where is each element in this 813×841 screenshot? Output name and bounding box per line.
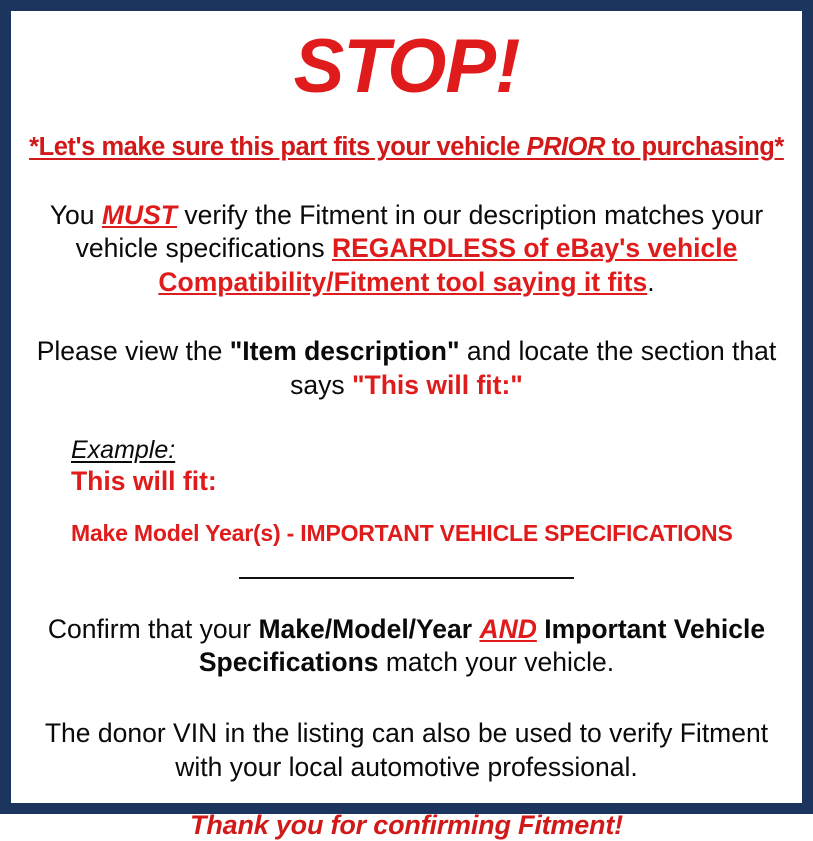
subtitle-after: to purchasing*: [605, 133, 784, 161]
headline-stop: STOP!: [29, 21, 784, 105]
p3-seg-5: match your vehicle.: [379, 647, 615, 677]
fitment-notice-frame: STOP! *Let's make sure this part fits yo…: [0, 0, 813, 814]
subtitle-emphasis-prior: PRIOR: [527, 133, 606, 161]
subtitle-banner: *Let's make sure this part fits your veh…: [29, 133, 784, 161]
p4-line-1: The donor VIN in the listing can also be…: [45, 718, 768, 748]
p2-seg-1: Please view the: [37, 336, 230, 366]
example-fit-heading: This will fit:: [71, 466, 784, 496]
paragraph-must-verify: You MUST verify the Fitment in our descr…: [29, 199, 784, 299]
paragraph-confirm-match: Confirm that your Make/Model/Year AND Im…: [29, 613, 784, 680]
subtitle-before: *Let's make sure this part fits your veh…: [29, 133, 526, 161]
example-label: Example:: [71, 436, 784, 465]
example-spec-line: Make Model Year(s) - IMPORTANT VEHICLE S…: [71, 520, 784, 546]
p2-quote-item-description: "Item description": [230, 336, 460, 366]
paragraph-donor-vin: The donor VIN in the listing can also be…: [29, 717, 784, 784]
p2-quote-this-will-fit: "This will fit:": [352, 370, 523, 400]
p1-seg-1: You: [50, 200, 102, 230]
p3-seg-1: Confirm that your: [48, 614, 259, 644]
p1-seg-5: .: [647, 267, 654, 297]
example-block: Example: This will fit: Make Model Year(…: [29, 436, 784, 547]
closing-thank-you: Thank you for confirming Fitment!: [29, 810, 784, 841]
p1-emphasis-must: MUST: [102, 200, 177, 230]
section-divider: [239, 577, 574, 579]
p4-line-2: with your local automotive professional.: [175, 752, 638, 782]
divider-wrap: [29, 573, 784, 583]
paragraph-item-description: Please view the "Item description" and l…: [29, 335, 784, 402]
notice-content: STOP! *Let's make sure this part fits yo…: [23, 21, 790, 813]
p3-emphasis-and: AND: [479, 614, 536, 644]
p3-bold-make-model-year: Make/Model/Year: [258, 614, 472, 644]
